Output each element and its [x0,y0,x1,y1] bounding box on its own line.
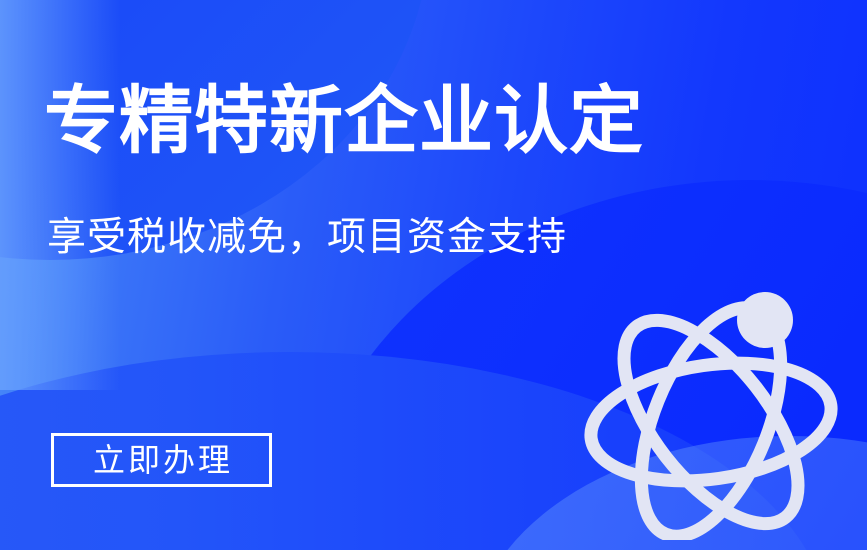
apply-now-button-label: 立即办理 [90,444,233,476]
promo-banner: 专精特新企业认定 享受税收减免，项目资金支持 立即办理 [0,0,867,550]
apply-now-button[interactable]: 立即办理 [51,433,272,487]
atom-icon [578,282,848,540]
banner-content: 专精特新企业认定 享受税收减免，项目资金支持 立即办理 [0,0,867,550]
page-title: 专精特新企业认定 [44,84,644,158]
banner-subtitle: 享受税收减免，项目资金支持 [47,218,567,257]
